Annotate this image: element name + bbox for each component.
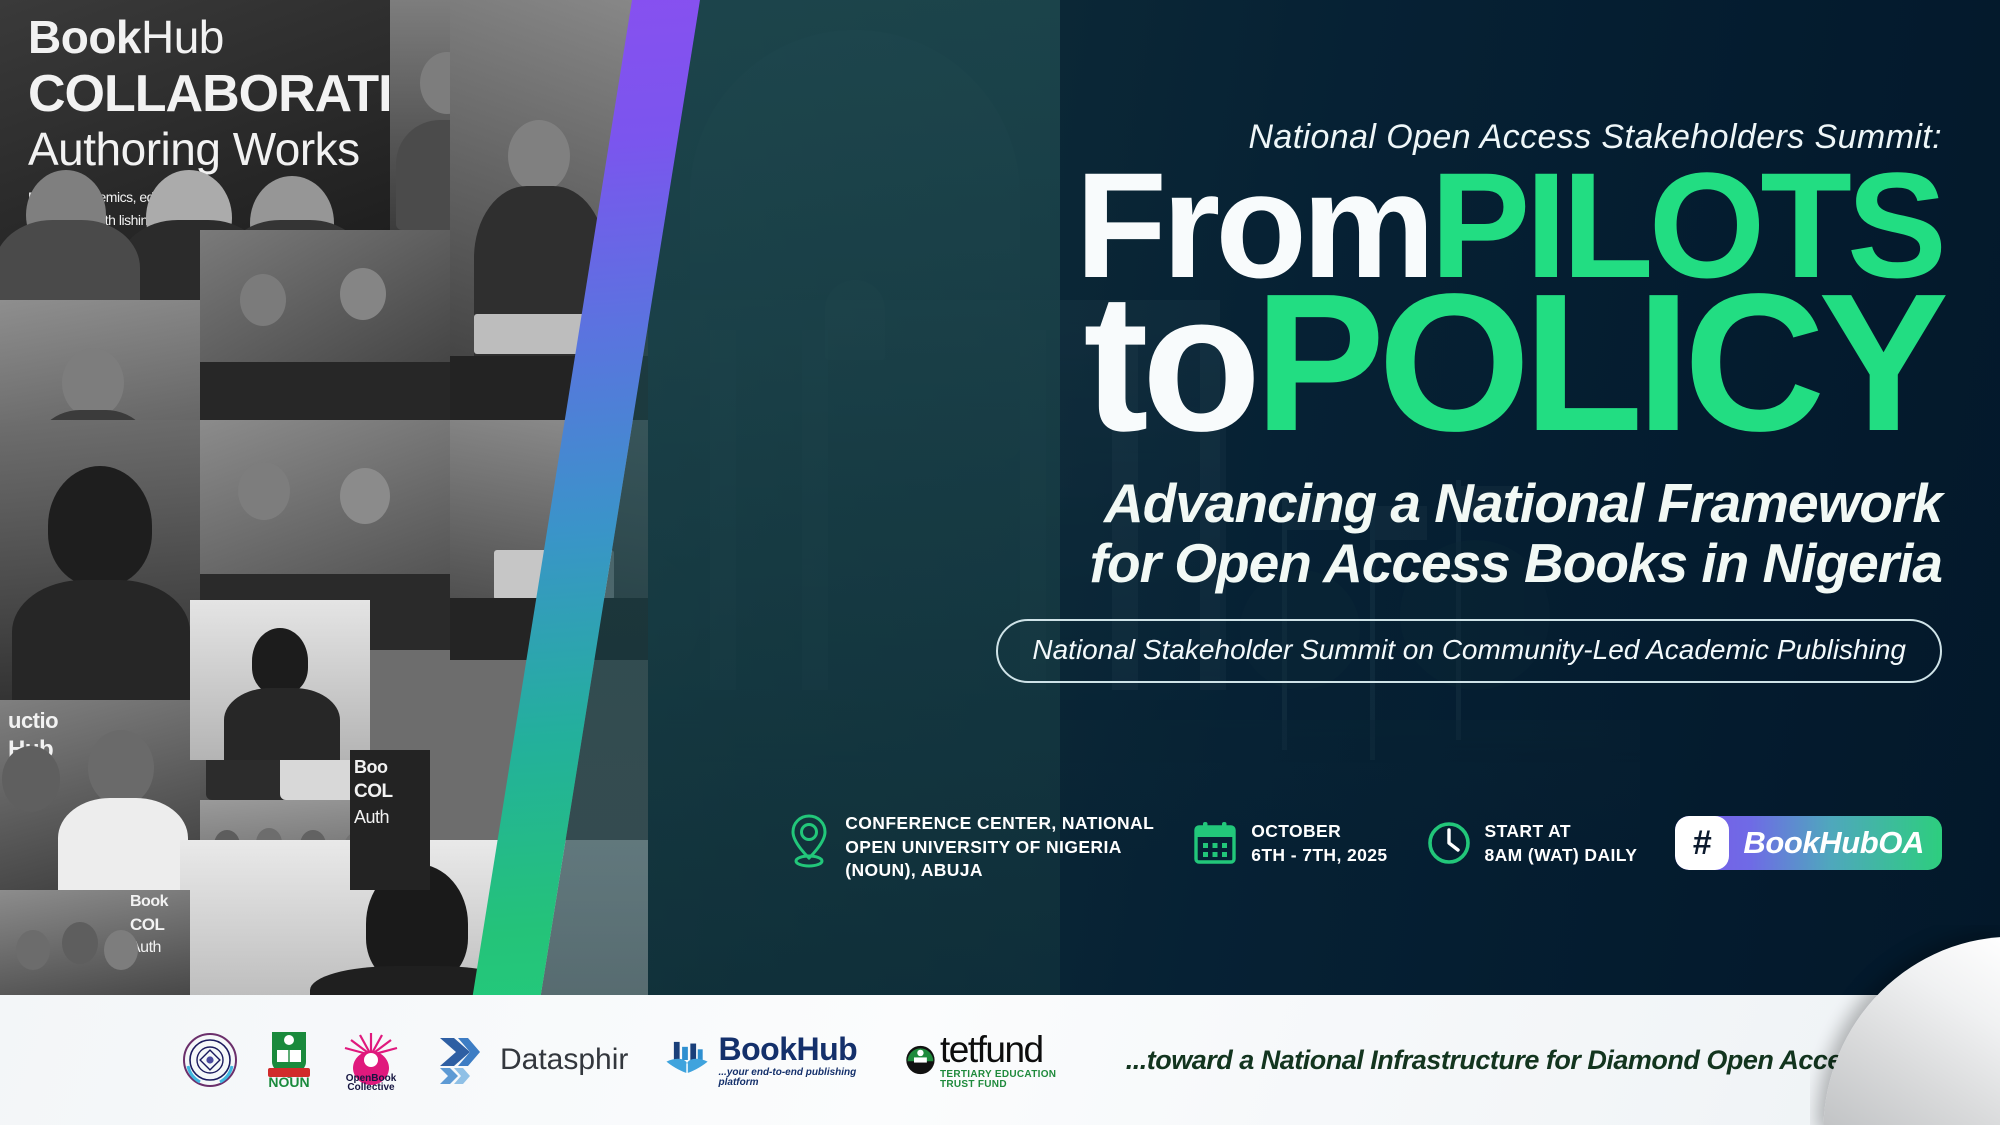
headline-to: to: [1083, 253, 1254, 472]
collage-banner2-l3: Auth: [354, 808, 389, 826]
headline-policy: POLICY: [1254, 253, 1942, 472]
bookhub-wordmark: BookHub: [719, 1031, 858, 1067]
sub-headline: Advancing a National Framework for Open …: [682, 474, 1942, 593]
collage-photo-speaker-mic: [190, 600, 370, 760]
collage-banner2-l1: Boo: [354, 758, 388, 776]
collage-photo-group-bottom: Book COL Auth: [0, 890, 190, 1000]
tetfund-wordmark: tetfund: [940, 1031, 1060, 1068]
collage-photo-seminar-1: [200, 230, 450, 420]
futminna-logo: [182, 1032, 238, 1088]
detail-venue: CONFERENCE CENTER, NATIONAL OPEN UNIVERS…: [786, 812, 1154, 883]
event-poster: BookHub COLLABORATI Authoring Works For …: [0, 0, 2000, 1125]
collage-banner2-l2: COL: [354, 782, 393, 801]
hash-symbol-icon: #: [1675, 816, 1729, 870]
collage-photo-award: uctio Hub: [0, 700, 200, 890]
collage-banner-bold: Book: [28, 11, 141, 63]
openbook-collective-logo: OpenBook Collective: [340, 1029, 402, 1091]
partner-logos: NOUN OpenBook Collective: [0, 1029, 2000, 1091]
noun-logo: NOUN: [262, 1030, 316, 1090]
time-line-1: START AT: [1485, 820, 1638, 844]
subheadline-line-2: for Open Access Books in Nigeria: [682, 534, 1942, 593]
subheadline-line-1: Advancing a National Framework: [682, 474, 1942, 533]
bookhub-logo: BookHub ...your end-to-end publishing pl…: [664, 1033, 867, 1088]
collage-banner5-l1: Book: [130, 894, 168, 910]
location-pin-icon: [786, 812, 832, 873]
summit-pill-label: National Stakeholder Summit on Community…: [996, 619, 1942, 683]
hashtag-text: BookHubOA: [1729, 825, 1924, 861]
hashtag-badge[interactable]: # BookHubOA: [1675, 816, 1942, 870]
collage-banner-l2: COLLABORATI: [28, 68, 390, 120]
tetfund-logo: tetfund TERTIARY EDUCATION TRUST FUND: [905, 1031, 1060, 1090]
collage-banner-l3: Authoring Works: [28, 126, 360, 172]
svg-text:NOUN: NOUN: [268, 1074, 309, 1090]
collage-photo-banner-strip: Boo COL Auth: [350, 750, 430, 890]
clock-icon: [1426, 820, 1472, 871]
detail-date-text: OCTOBER 6TH - 7TH, 2025: [1251, 820, 1387, 867]
date-line-1: OCTOBER: [1251, 820, 1387, 844]
bookhub-tagline: ...your end-to-end publishing platform: [719, 1068, 868, 1088]
svg-text:Collective: Collective: [347, 1082, 395, 1091]
time-line-2: 8AM (WAT) DAILY: [1485, 844, 1638, 868]
datasphir-wordmark: Datasphir: [500, 1043, 628, 1077]
headline-line-2: toPOLICY: [682, 282, 1942, 445]
date-line-2: 6TH - 7TH, 2025: [1251, 844, 1387, 868]
calendar-icon: [1192, 820, 1238, 871]
collage-banner3-l1: uctio: [8, 710, 58, 732]
detail-venue-text: CONFERENCE CENTER, NATIONAL OPEN UNIVERS…: [845, 812, 1154, 883]
footer-bar: NOUN OpenBook Collective: [0, 995, 2000, 1125]
collage-banner5-l2: COL: [130, 916, 164, 933]
collage-banner-light: Hub: [141, 11, 224, 63]
venue-line-1: CONFERENCE CENTER, NATIONAL: [845, 812, 1154, 836]
detail-time: START AT 8AM (WAT) DAILY: [1426, 820, 1638, 871]
main-headline: FromPILOTS toPOLICY: [682, 163, 1942, 444]
event-details-row: CONFERENCE CENTER, NATIONAL OPEN UNIVERS…: [786, 812, 1942, 883]
detail-time-text: START AT 8AM (WAT) DAILY: [1485, 820, 1638, 867]
collage-photo-portrait-main: [0, 420, 200, 700]
venue-line-3: (NOUN), ABUJA: [845, 859, 1154, 883]
venue-line-2: OPEN UNIVERSITY OF NIGERIA: [845, 836, 1154, 860]
tetfund-sub: TERTIARY EDUCATION TRUST FUND: [940, 1070, 1060, 1090]
detail-date: OCTOBER 6TH - 7TH, 2025: [1192, 820, 1387, 871]
datasphir-logo: Datasphir: [434, 1032, 628, 1088]
page-curl-corner: [1810, 925, 2000, 1125]
poster-content: National Open Access Stakeholders Summit…: [682, 0, 1942, 683]
